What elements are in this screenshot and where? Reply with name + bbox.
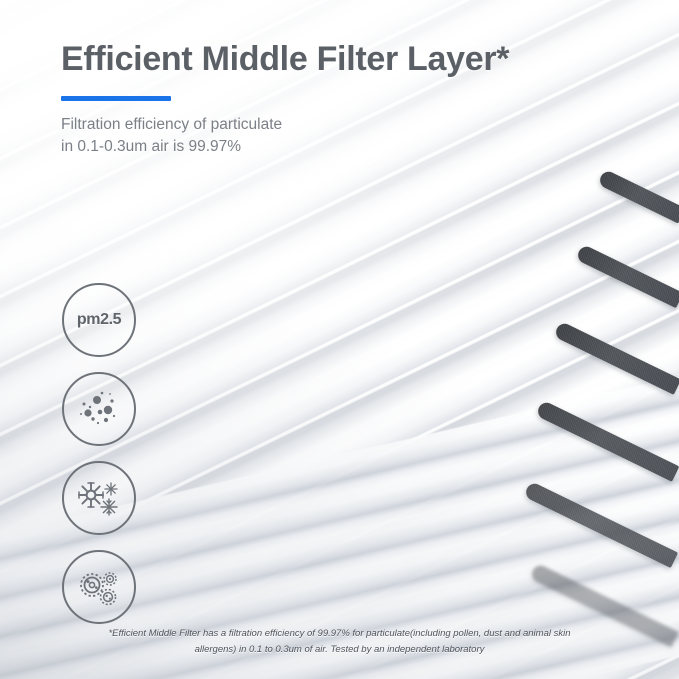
- carbon-tip: [523, 481, 678, 568]
- badge-dust: [62, 372, 136, 446]
- heading-block: Efficient Middle Filter Layer* Filtratio…: [61, 40, 621, 158]
- carbon-tip: [535, 400, 679, 482]
- accent-rule: [61, 96, 171, 101]
- pollen-snowflake-icon: [75, 476, 123, 520]
- badge-allergen: [62, 550, 136, 624]
- footnote-line-1: *Efficient Middle Filter has a filtratio…: [60, 626, 619, 641]
- carbon-tip: [553, 321, 679, 395]
- allergen-gear-icon: [75, 565, 123, 609]
- pm25-text-icon: pm2.5: [77, 311, 121, 329]
- footnote-line-2: allergens) in 0.1 to 0.3um of air. Teste…: [60, 642, 619, 657]
- product-feature-image: Efficient Middle Filter Layer* Filtratio…: [0, 0, 679, 679]
- badge-pm25: pm2.5: [62, 283, 136, 357]
- carbon-tip: [597, 169, 679, 224]
- feature-badge-list: pm2.5: [62, 283, 136, 639]
- subtitle-line-1: Filtration efficiency of particulate: [61, 114, 621, 136]
- footnote: *Efficient Middle Filter has a filtratio…: [60, 626, 619, 657]
- subtitle-line-2: in 0.1-0.3um air is 99.97%: [61, 136, 621, 158]
- dust-particles-icon: [76, 388, 122, 430]
- carbon-tip: [575, 244, 679, 308]
- page-title: Efficient Middle Filter Layer*: [61, 40, 621, 79]
- badge-pollen: [62, 461, 136, 535]
- subtitle: Filtration efficiency of particulate in …: [61, 114, 621, 158]
